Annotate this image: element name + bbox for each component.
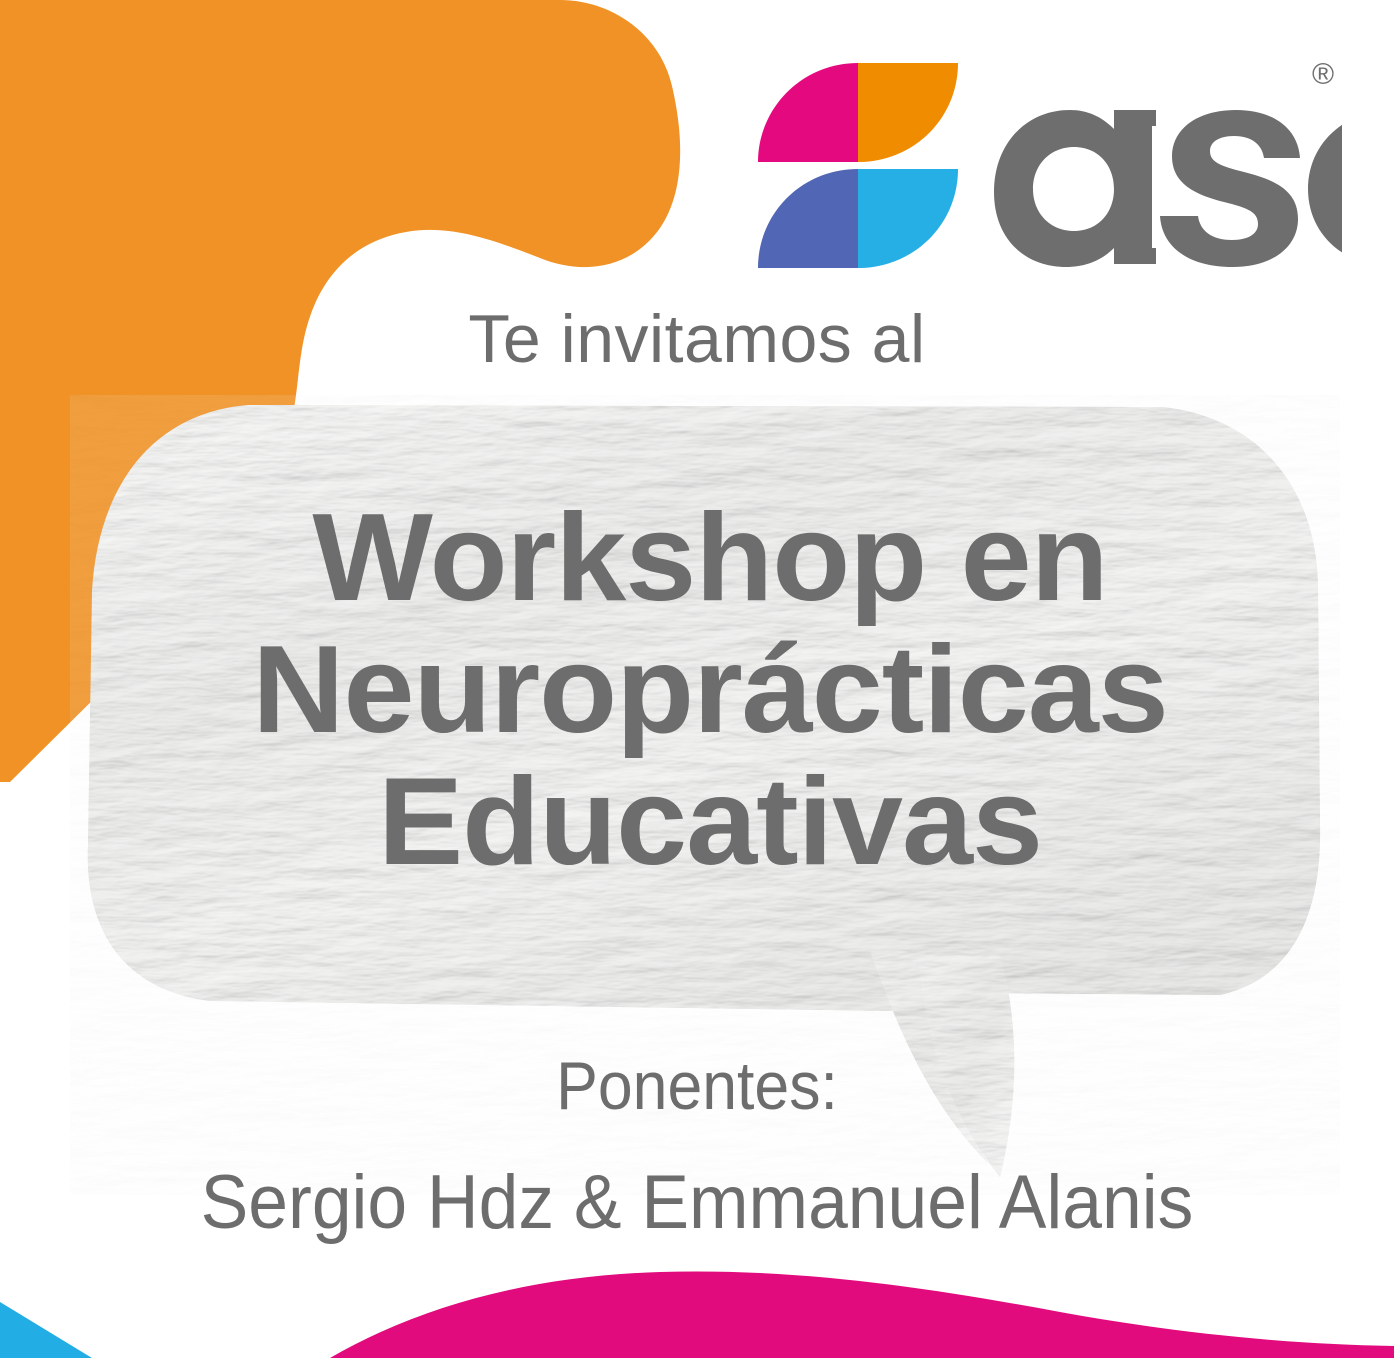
- asc-logo-mark-icon: [752, 58, 964, 273]
- asc-logo[interactable]: ®: [752, 52, 1342, 282]
- speakers-names: Sergio Hdz & Emmanuel Alanis: [42, 1156, 1352, 1250]
- magenta-wave-shape: [330, 1271, 1394, 1358]
- registered-trademark-icon: ®: [1306, 58, 1340, 92]
- logo-quadrant-orange: [858, 63, 958, 162]
- headline-line-1: Workshop en: [102, 492, 1317, 624]
- headline-line-2: Neuroprácticas: [102, 624, 1317, 756]
- invite-line: Te invitamos al: [0, 296, 1394, 382]
- headline-line-3: Educativas: [102, 756, 1317, 888]
- page-title: Workshop en Neuroprácticas Educativas: [102, 492, 1317, 888]
- wordmark-letter-s: [1160, 110, 1300, 267]
- wordmark-letter-a: [994, 110, 1156, 267]
- cyan-corner-triangle: [0, 1302, 92, 1358]
- logo-quadrant-cyan: [858, 169, 958, 268]
- wordmark-letter-c: [1308, 110, 1342, 267]
- poster-canvas: ® Te invitamos al Workshop en Neuropráct…: [0, 0, 1394, 1358]
- logo-quadrant-magenta: [758, 63, 858, 162]
- logo-quadrant-indigo: [758, 169, 858, 268]
- asc-wordmark: [974, 52, 1342, 267]
- speakers-label: Ponentes:: [56, 1044, 1338, 1128]
